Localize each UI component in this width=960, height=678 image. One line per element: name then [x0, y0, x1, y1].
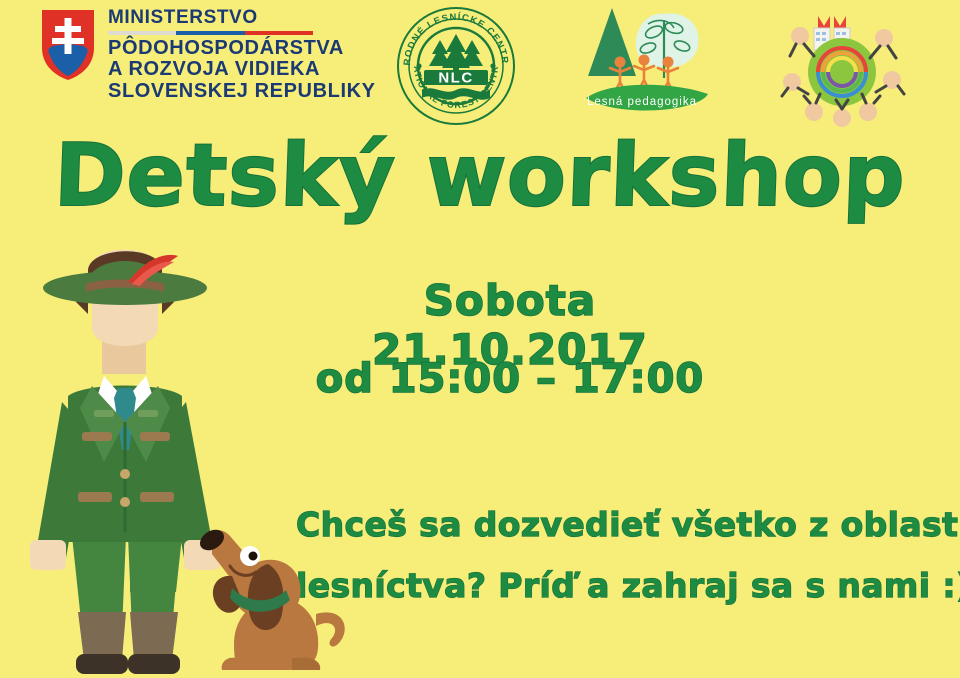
tricolor-red	[245, 31, 313, 35]
ministry-text-block: MINISTERSTVO PÔDOHOSPODÁRSTVA A ROZVOJA …	[108, 8, 376, 102]
tricolor-rule	[108, 31, 313, 35]
forester-button	[120, 497, 130, 507]
dog-back-paw	[292, 658, 320, 670]
poster-canvas: MINISTERSTVO PÔDOHOSPODÁRSTVA A ROZVOJA …	[0, 0, 960, 678]
forester-right-boot	[130, 612, 178, 660]
nlc-acronym: NLC	[438, 70, 473, 87]
forester-pocket	[140, 492, 174, 502]
ministry-line-3: A ROZVOJA VIDIEKA	[108, 59, 376, 81]
tricolor-white	[108, 31, 176, 35]
tricolor-blue	[176, 31, 244, 35]
lesna-pedagogika-label: Lesná pedagogika	[587, 96, 697, 108]
ministry-logo: MINISTERSTVO PÔDOHOSPODÁRSTVA A ROZVOJA …	[40, 8, 376, 102]
dog-tail	[316, 612, 345, 646]
kids-world-logo	[756, 2, 928, 128]
event-time: od 15:00 – 17:00	[300, 356, 720, 402]
dog-front-paw	[222, 658, 254, 670]
dog-pupil	[249, 552, 258, 561]
forester-left-sole	[76, 654, 128, 674]
ministry-line-2: PÔDOHOSPODÁRSTVA	[108, 38, 376, 60]
forester-pocket	[78, 492, 112, 502]
forester-right-sole	[128, 654, 180, 674]
nlc-seal-logo: NÁRODNÉ LESNÍCKE CENTRUM NATIONAL FOREST…	[396, 6, 516, 126]
forester-pocket	[82, 432, 112, 441]
logo-row: MINISTERSTVO PÔDOHOSPODÁRSTVA A ROZVOJA …	[0, 0, 960, 130]
event-description-line-2: lesníctva? Príď a zahraj sa s nami :)	[296, 555, 956, 616]
event-description: Chceš sa dozvedieť všetko z oblasti lesn…	[296, 494, 956, 616]
fir-trees-icon	[429, 34, 483, 74]
ministry-line-1: MINISTERSTVO	[108, 8, 376, 29]
forester-left-hand	[30, 540, 66, 570]
dog-illustration	[176, 518, 366, 678]
lesna-pedagogika-logo: Lesná pedagogika	[578, 2, 728, 124]
page-title: Detský workshop	[0, 126, 960, 226]
forester-left-boot	[78, 612, 126, 660]
forester-button	[120, 469, 130, 479]
forester-pocket	[140, 432, 170, 441]
event-description-line-1: Chceš sa dozvedieť všetko z oblasti	[296, 494, 956, 555]
ministry-line-4: SLOVENSKEJ REPUBLIKY	[108, 81, 376, 103]
slovak-coat-of-arms-icon	[40, 8, 96, 82]
